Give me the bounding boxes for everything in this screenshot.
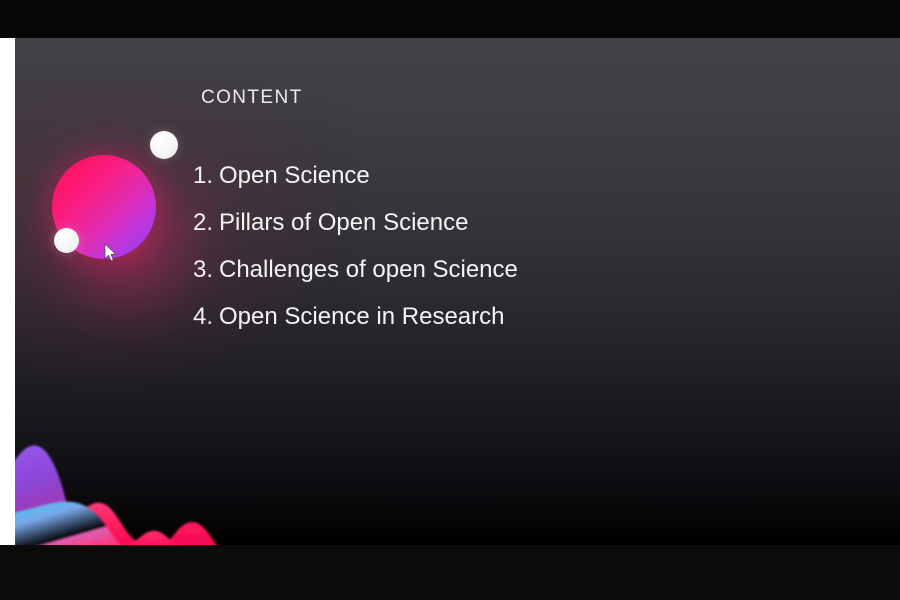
list-item[interactable]: 3. Challenges of open Science (193, 256, 793, 303)
list-item-label: Open Science in Research (219, 303, 505, 331)
list-item-number: 1. (193, 162, 219, 190)
slide-canvas[interactable]: CONTENT 1. Open Science 2. Pillars of Op… (15, 38, 900, 545)
page-title: CONTENT (201, 87, 303, 109)
list-item[interactable]: 2. Pillars of Open Science (193, 209, 793, 256)
list-item-number: 2. (193, 209, 219, 237)
list-item-number: 3. (193, 256, 219, 284)
list-item-label: Challenges of open Science (219, 256, 518, 284)
left-white-rail (0, 38, 15, 545)
list-item[interactable]: 1. Open Science (193, 162, 793, 209)
letterbox-bar-top (0, 0, 900, 38)
lower-dot-icon (54, 228, 79, 253)
wave-artwork-icon (15, 419, 229, 545)
list-item[interactable]: 4. Open Science in Research (193, 303, 793, 350)
list-item-label: Pillars of Open Science (219, 209, 468, 237)
upper-dot-icon (150, 131, 178, 159)
mouse-cursor-icon (104, 243, 118, 263)
letterbox-bar-bottom (0, 545, 900, 600)
list-item-number: 4. (193, 303, 219, 331)
list-item-label: Open Science (219, 162, 370, 190)
contents-list: 1. Open Science 2. Pillars of Open Scien… (193, 162, 793, 350)
presentation-viewer: CONTENT 1. Open Science 2. Pillars of Op… (0, 0, 900, 600)
